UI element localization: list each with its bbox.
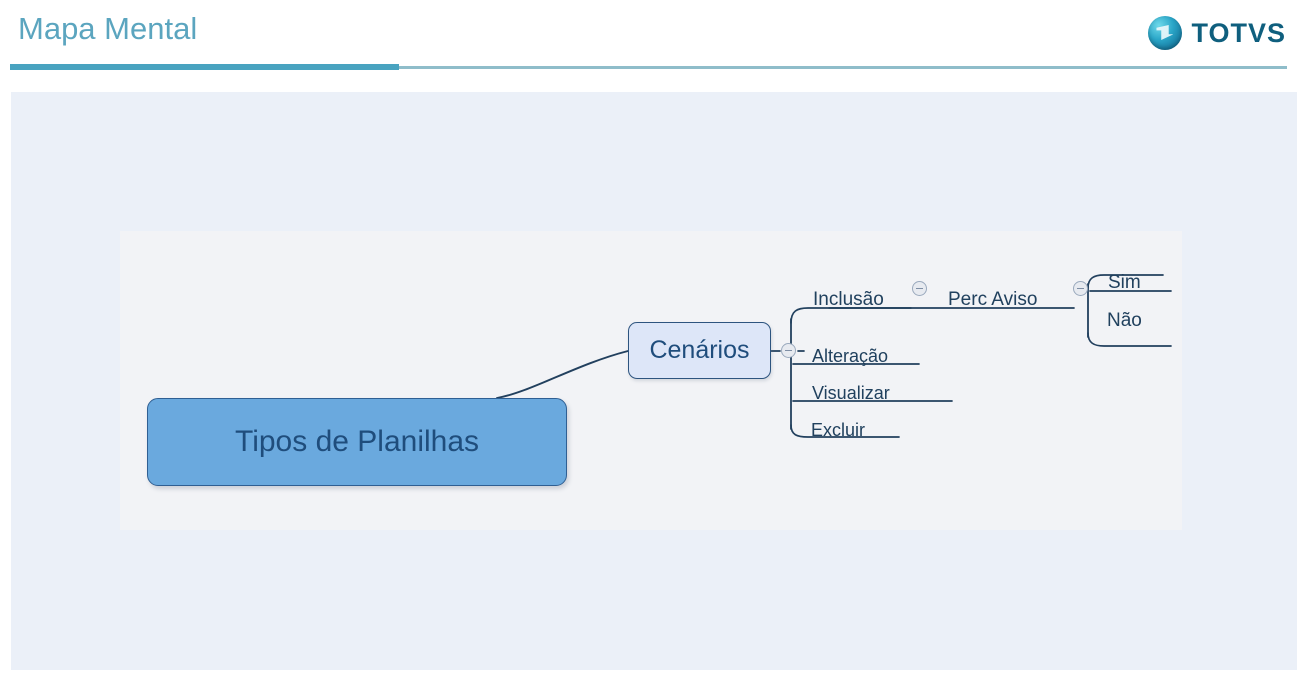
collapse-toggle-inclusao[interactable] (912, 281, 927, 296)
totvs-wordmark: TOTVS (1191, 18, 1286, 49)
collapse-toggle-perc-aviso[interactable] (1073, 281, 1088, 296)
mindmap-node-nao[interactable]: Não (1107, 311, 1142, 330)
header-divider-accent (10, 64, 399, 70)
totvs-logo: TOTVS (1148, 13, 1286, 53)
mindmap-node-sim[interactable]: Sim (1108, 273, 1141, 292)
mindmap-node-excluir[interactable]: Excluir (811, 421, 865, 439)
app-header: Mapa Mental TOTVS (0, 0, 1308, 80)
mindmap-node-inclusao[interactable]: Inclusão (813, 290, 884, 309)
mindmap-node-root-label: Tipos de Planilhas (235, 425, 479, 459)
mindmap-node-root[interactable]: Tipos de Planilhas (147, 398, 567, 486)
collapse-toggle-cenarios[interactable] (781, 343, 796, 358)
mindmap-node-cenarios-label: Cenários (649, 336, 749, 365)
page-title: Mapa Mental (18, 11, 197, 47)
mindmap-node-visualizar[interactable]: Visualizar (812, 384, 890, 402)
totvs-circle-icon (1148, 16, 1182, 50)
mindmap-node-alteracao[interactable]: Alteração (812, 347, 888, 365)
mindmap-node-perc-aviso[interactable]: Perc Aviso (948, 290, 1037, 309)
content-area: Tipos de Planilhas Cenários Inclusão Per… (11, 92, 1297, 670)
mindmap-node-cenarios[interactable]: Cenários (628, 322, 771, 379)
